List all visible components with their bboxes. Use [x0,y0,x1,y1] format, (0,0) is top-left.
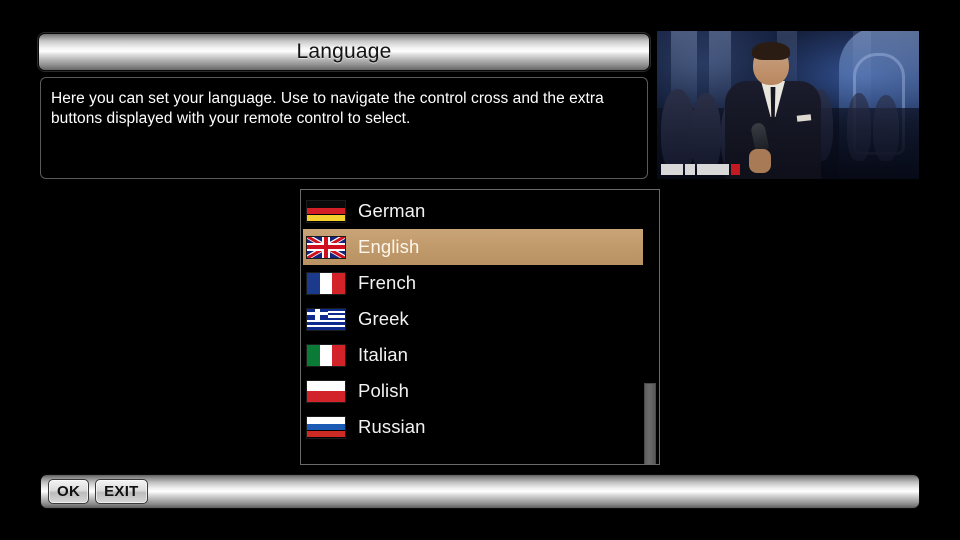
video-crowd-figure [873,95,899,161]
video-preview[interactable] [657,31,919,179]
flag-italy-icon [306,344,346,367]
video-reporter-hair [752,42,790,60]
language-label: Polish [358,380,409,402]
ok-button[interactable]: OK [48,479,89,504]
flag-germany-icon [306,200,346,223]
list-item-selected[interactable]: English [303,229,643,265]
language-label: Russian [358,416,426,438]
language-label: Italian [358,344,408,366]
list-item[interactable]: Greek [303,301,643,337]
flag-greece-icon [306,308,346,331]
list-item[interactable]: German [303,193,643,229]
list-item[interactable]: Polish [303,373,643,409]
language-label: French [358,272,416,294]
window-title-bar: Language [38,33,650,71]
flag-france-icon [306,272,346,295]
flag-poland-icon [306,380,346,403]
list-item[interactable]: French [303,265,643,301]
bottom-action-bar: OK EXIT [40,474,920,509]
page-title: Language [296,40,391,64]
list-scrollbar[interactable] [644,383,656,465]
flag-united-kingdom-icon [306,236,346,259]
language-label: English [358,236,419,258]
language-list: German English French [303,193,643,445]
list-scrollbar-thumb[interactable] [644,383,656,465]
description-text: Here you can set your language. Use to n… [51,89,635,128]
description-panel: Here you can set your language. Use to n… [40,77,648,179]
language-label: German [358,200,425,222]
language-label: Greek [358,308,409,330]
language-list-panel[interactable]: German English French [300,189,660,465]
exit-button[interactable]: EXIT [95,479,148,504]
list-item[interactable]: Russian [303,409,643,445]
video-crowd-figure [847,93,871,161]
list-item[interactable]: Italian [303,337,643,373]
video-crowd-figure [661,89,695,173]
tv-settings-screen: Language Here you can set your language.… [0,0,960,540]
flag-russia-icon [306,416,346,439]
video-reporter-hand [749,149,771,173]
video-crowd-figure [691,93,721,173]
channel-logo-bug [661,164,740,175]
